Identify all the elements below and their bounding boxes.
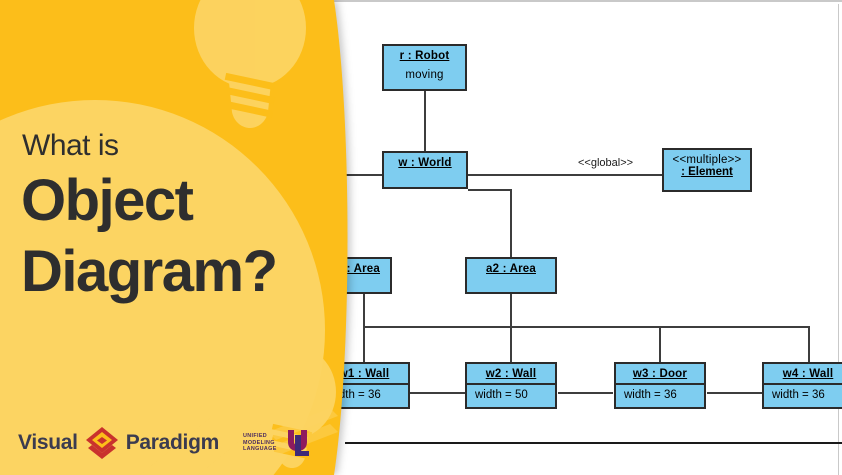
slide-eyebrow: What is [22, 131, 119, 161]
connector-bus-wall1 [363, 326, 365, 362]
connector-area1-down [363, 294, 365, 326]
connector-bus-wall2 [510, 326, 512, 362]
uml-logo: UNIFIED MODELING LANGUAGE [243, 427, 314, 459]
object-node-robot[interactable]: r : Robot moving [382, 44, 467, 91]
connector-world-element [468, 174, 662, 176]
title-panel: What is Object Diagram? Visual Paradigm … [0, 0, 360, 475]
canvas-bottom-divider [345, 442, 842, 444]
object-node-area2-title: a2 : Area [467, 259, 555, 278]
slide-title-line1: Object [21, 172, 193, 230]
object-node-area2[interactable]: a2 : Area [465, 257, 557, 294]
brand-word-paradigm: Paradigm [126, 431, 219, 455]
object-node-wall2[interactable]: w2 : Wall width = 50 [465, 362, 557, 409]
visual-paradigm-diamond-icon [85, 426, 119, 460]
object-node-element-stereotype: <<multiple>> [664, 150, 750, 166]
edge-label-global: <<global>> [578, 157, 633, 169]
object-node-robot-title: r : Robot [384, 46, 465, 65]
connector-wall-bus [363, 326, 810, 328]
object-node-door3[interactable]: w3 : Door width = 36 [614, 362, 706, 409]
object-node-world[interactable]: w : World [382, 151, 468, 189]
object-node-wall4-attribute: width = 36 [764, 383, 842, 401]
object-node-wall4[interactable]: w4 : Wall width = 36 [762, 362, 842, 409]
uml-mark-icon [282, 427, 314, 459]
connector-wall1-wall2 [410, 392, 465, 394]
connector-world-elbow-v [510, 189, 512, 257]
object-node-door3-title: w3 : Door [616, 364, 704, 383]
connector-bus-wall4 [808, 326, 810, 362]
object-node-world-title: w : World [384, 153, 466, 172]
object-node-element-title: : Element [664, 166, 750, 181]
uml-line-language: LANGUAGE [243, 446, 277, 452]
connector-robot-world [424, 91, 426, 151]
slide-canvas: r : Robot moving w : World <<multiple>> … [0, 0, 842, 475]
object-node-wall2-attribute: width = 50 [467, 383, 555, 401]
brand-word-visual: Visual [18, 431, 78, 455]
object-node-wall2-title: w2 : Wall [467, 364, 555, 383]
slide-title-line2: Diagram? [21, 243, 277, 301]
object-node-element[interactable]: <<multiple>> : Element [662, 148, 752, 192]
object-node-door3-attribute: width = 36 [616, 383, 704, 401]
object-node-wall4-title: w4 : Wall [764, 364, 842, 383]
connector-world-elbow-h [468, 189, 512, 191]
connector-wall2-door3 [558, 392, 613, 394]
object-node-robot-attribute: moving [384, 65, 465, 81]
connector-door3-wall4 [707, 392, 762, 394]
connector-bus-door3 [659, 326, 661, 362]
footer-logo-row: Visual Paradigm UNIFIED MODELING LANGUAG… [18, 424, 314, 462]
uml-wordmark: UNIFIED MODELING LANGUAGE [243, 433, 277, 452]
